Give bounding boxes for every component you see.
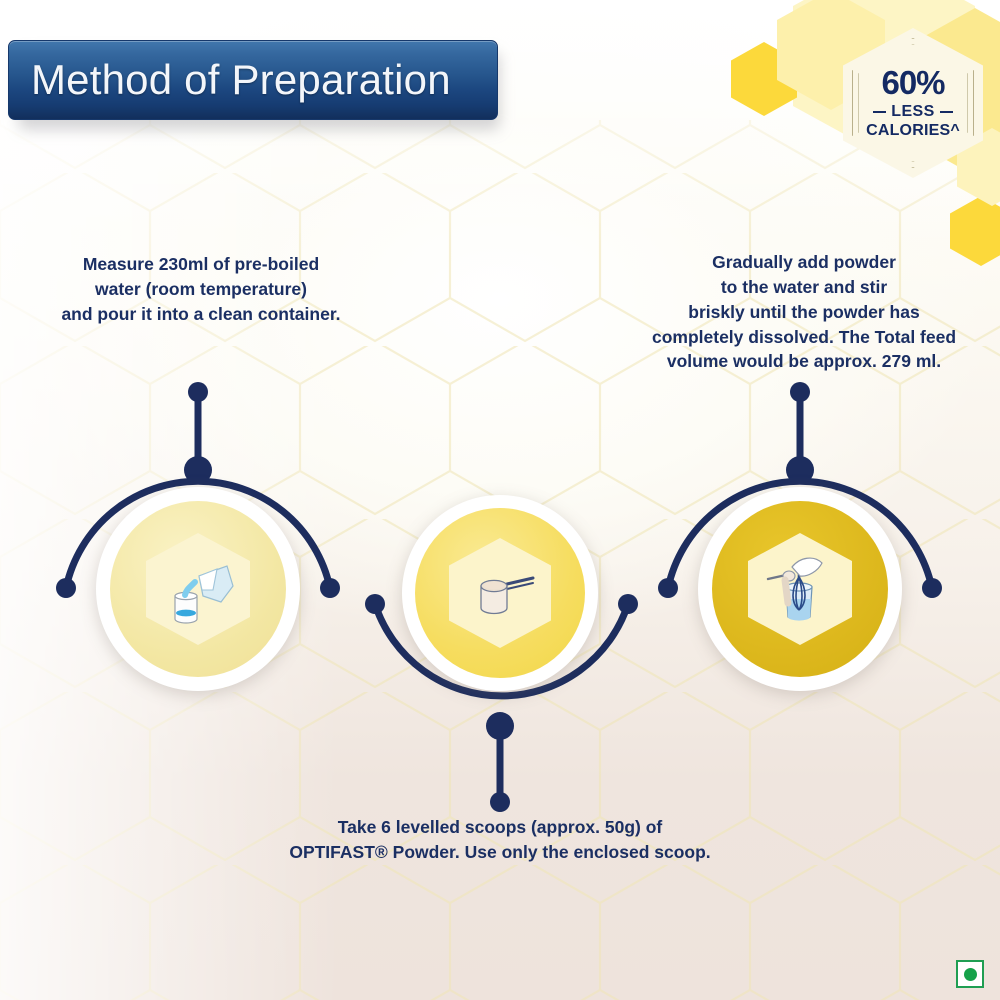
connector-dot-step1-top <box>188 382 208 402</box>
step-1-description: Measure 230ml of pre-boiled water (room … <box>18 252 384 327</box>
step-1-circle <box>96 487 300 691</box>
powder-scoop-icon <box>459 552 541 634</box>
connector-dot-step3-right <box>922 578 942 598</box>
step-3-line-3: briskly until the powder has <box>620 300 988 325</box>
connector-dot-step2-right <box>618 594 638 614</box>
step-2-icon-hexagon <box>449 538 551 648</box>
vegetarian-mark-dot <box>964 968 977 981</box>
step-3-line-1: Gradually add powder <box>620 250 988 275</box>
pouring-water-icon <box>155 546 241 632</box>
connector-dot-step1-left <box>56 578 76 598</box>
connector-hub-step2 <box>486 712 514 740</box>
step-2-circle <box>402 495 598 691</box>
step-3-circle <box>698 487 902 691</box>
step-3-line-5: volume would be approx. 279 ml. <box>620 349 988 374</box>
step-1-line-2: water (room temperature) <box>18 277 384 302</box>
step-1-circle-fill <box>110 501 286 677</box>
step-3-description: Gradually add powder to the water and st… <box>620 250 988 374</box>
connector-dot-step2-bottom <box>490 792 510 812</box>
step-1-icon-hexagon <box>146 533 250 645</box>
step-1-line-3: and pour it into a clean container. <box>18 302 384 327</box>
connector-dot-step2-left <box>365 594 385 614</box>
connector-dot-step3-top <box>790 382 810 402</box>
connector-dot-step1-right <box>320 578 340 598</box>
step-3-line-4: completely dissolved. The Total feed <box>620 325 988 350</box>
step-1-line-1: Measure 230ml of pre-boiled <box>18 252 384 277</box>
connector-hub-step3 <box>786 456 814 484</box>
step-2-description: Take 6 levelled scoops (approx. 50g) of … <box>230 815 770 865</box>
step-3-line-2: to the water and stir <box>620 275 988 300</box>
infographic-canvas: Method of Preparation 60% LESS CALORIES^ <box>0 0 1000 1000</box>
step-2-circle-fill <box>415 508 585 678</box>
connector-hub-step1 <box>184 456 212 484</box>
step-2-line-1: Take 6 levelled scoops (approx. 50g) of <box>230 815 770 840</box>
stirring-whisk-icon <box>758 547 842 631</box>
step-3-icon-hexagon <box>748 533 852 645</box>
vegetarian-mark-icon <box>956 960 984 988</box>
connector-dot-step3-left <box>658 578 678 598</box>
step-2-line-2: OPTIFAST® Powder. Use only the enclosed … <box>230 840 770 865</box>
step-3-circle-fill <box>712 501 888 677</box>
